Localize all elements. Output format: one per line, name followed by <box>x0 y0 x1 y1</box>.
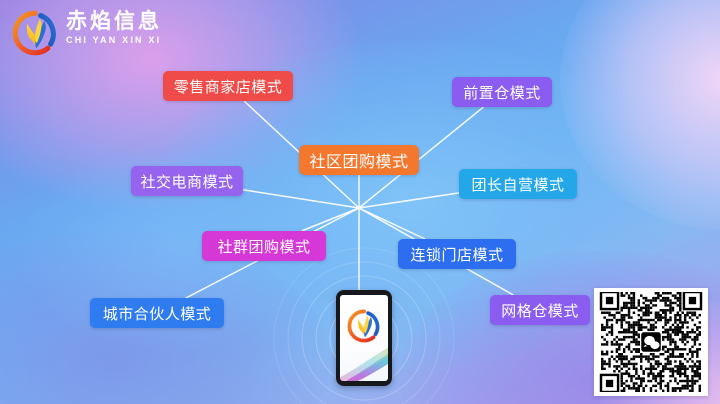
chiyan-circle-y-logo-icon <box>347 309 381 343</box>
node-label: 社交电商模式 <box>140 171 233 192</box>
node-label: 社群团购模式 <box>217 236 310 257</box>
node-center-community-group-buy[interactable]: 社区团购模式 <box>299 145 419 175</box>
wechat-qr-code[interactable] <box>594 288 708 396</box>
smartphone-mockup <box>336 290 392 386</box>
node-label: 前置仓模式 <box>463 82 541 103</box>
phone-screen <box>340 295 388 381</box>
node-social-ecommerce[interactable]: 社交电商模式 <box>131 166 243 196</box>
node-label: 社区团购模式 <box>309 148 408 172</box>
node-retail-merchant-store[interactable]: 零售商家店模式 <box>163 71 293 101</box>
phone-swoosh-decoration <box>340 345 388 381</box>
brand-wordmark: 赤焰信息 CHI YAN XIN XI <box>66 10 162 47</box>
node-community-group-buy[interactable]: 社群团购模式 <box>202 231 326 261</box>
node-label: 城市合伙人模式 <box>103 303 212 324</box>
node-forward-warehouse[interactable]: 前置仓模式 <box>452 77 552 107</box>
node-group-leader-self-run[interactable]: 团长自营模式 <box>459 169 577 199</box>
node-grid-warehouse[interactable]: 网格仓模式 <box>490 295 590 325</box>
node-label: 网格仓模式 <box>501 300 579 321</box>
chiyan-circle-y-logo-icon <box>12 10 58 56</box>
brand-logo: 赤焰信息 CHI YAN XIN XI <box>12 8 202 58</box>
brand-name-en: CHI YAN XIN XI <box>66 34 162 47</box>
node-chain-store[interactable]: 连锁门店模式 <box>398 239 516 269</box>
brand-name-cn: 赤焰信息 <box>66 10 162 34</box>
node-label: 团长自营模式 <box>471 174 564 195</box>
connector-line <box>359 208 425 239</box>
node-label: 连锁门店模式 <box>410 244 503 265</box>
qr-matrix <box>598 292 704 392</box>
connector-line <box>302 208 360 231</box>
node-label: 零售商家店模式 <box>174 76 283 97</box>
node-city-partner[interactable]: 城市合伙人模式 <box>90 298 224 328</box>
infographic-canvas: 赤焰信息 CHI YAN XIN XI 零售商家店模式前置仓模式社交电商模式团长… <box>0 0 720 404</box>
